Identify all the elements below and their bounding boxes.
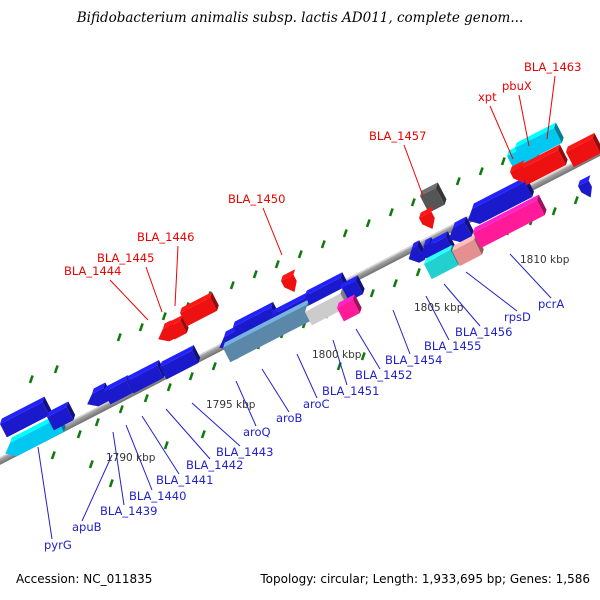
tick-mark-icon [120, 406, 123, 414]
tick-mark-icon [202, 431, 205, 439]
tick-mark-icon [96, 419, 99, 427]
leader-line [263, 208, 282, 255]
gene-label-apub[interactable]: apuB [72, 520, 102, 534]
gene-label-aroc[interactable]: aroC [303, 397, 330, 411]
ruler-label: 1790 kbp [106, 452, 156, 464]
gene-label-pbux[interactable]: pbuX [502, 79, 532, 93]
tick-mark-icon [254, 271, 257, 279]
tick-mark-icon [457, 178, 460, 186]
tick-mark-icon [190, 373, 193, 381]
ruler-label: 1800 kbp [312, 349, 362, 361]
tick-mark-icon [367, 220, 370, 228]
gene-1443[interactable] [158, 345, 202, 379]
tick-mark-icon [417, 269, 420, 277]
gene-label-bla-1443[interactable]: BLA_1443 [216, 445, 273, 459]
tick-mark-icon [480, 168, 483, 176]
gene-label-pyrg[interactable]: pyrG [44, 538, 72, 552]
tick-mark-icon [322, 241, 325, 249]
gene-label-aroq[interactable]: aroQ [243, 425, 271, 439]
leader-line [113, 432, 124, 505]
ruler-label: 1810 kbp [520, 254, 570, 266]
tick-mark-icon [276, 261, 279, 269]
leader-line [175, 246, 178, 306]
leader-line [466, 272, 517, 311]
tick-mark-icon [553, 208, 556, 216]
tick-mark-icon [412, 199, 415, 207]
gene-label-bla-1442[interactable]: BLA_1442 [186, 458, 243, 472]
gene-label-arob[interactable]: aroB [276, 411, 303, 425]
genome-map-canvas[interactable]: BLA_1444BLA_1445BLA_1446BLA_1450BLA_1457… [0, 0, 600, 600]
ruler-label: 1805 kbp [414, 302, 464, 314]
gene-label-bla-1440[interactable]: BLA_1440 [129, 489, 186, 503]
gene-blue-tip[interactable] [576, 175, 599, 200]
ruler-label: 1795 kbp [206, 399, 256, 411]
leader-line [333, 340, 347, 385]
leader-line [519, 95, 529, 146]
gene-label-bla-1463[interactable]: BLA_1463 [524, 60, 581, 74]
gene-1463[interactable] [564, 133, 600, 167]
gene-label-bla-1456[interactable]: BLA_1456 [455, 325, 512, 339]
gene-label-bla-1444[interactable]: BLA_1444 [64, 264, 121, 278]
leader-line [262, 369, 289, 412]
tick-mark-icon [110, 480, 113, 488]
leader-line [142, 416, 179, 474]
tick-mark-icon [502, 158, 505, 166]
gene-label-bla-1452[interactable]: BLA_1452 [355, 368, 412, 382]
leader-line [490, 106, 513, 159]
gene-features-layer[interactable] [0, 122, 600, 460]
leader-line [110, 280, 148, 320]
tick-mark-icon [165, 442, 168, 450]
tick-mark-icon [299, 251, 302, 259]
tick-mark-icon [575, 197, 578, 205]
tick-mark-icon [118, 334, 121, 342]
leader-line [146, 267, 162, 312]
gene-label-bla-1451[interactable]: BLA_1451 [322, 384, 379, 398]
tick-mark-icon [362, 353, 365, 361]
leader-line [404, 145, 423, 196]
gene-label-bla-1457[interactable]: BLA_1457 [369, 129, 426, 143]
gene-label-pcra[interactable]: pcrA [538, 297, 564, 311]
gene-label-xpt[interactable]: xpt [478, 90, 497, 104]
leader-line [393, 310, 410, 354]
gene-label-rpsd[interactable]: rpsD [504, 310, 531, 324]
tick-mark-icon [30, 376, 33, 384]
gene-1457[interactable] [418, 182, 448, 213]
tick-mark-icon [90, 461, 93, 469]
genome-summary-text: Topology: circular; Length: 1,933,695 bp… [260, 572, 590, 586]
tick-mark-icon [78, 431, 81, 439]
gene-label-bla-1455[interactable]: BLA_1455 [424, 339, 481, 353]
gene-1446[interactable] [178, 292, 220, 326]
gene-label-bla-1446[interactable]: BLA_1446 [137, 230, 194, 244]
gene-label-bla-1445[interactable]: BLA_1445 [97, 251, 154, 265]
leader-line [38, 447, 52, 539]
tick-mark-icon [390, 209, 393, 217]
genome-viewer: Bifidobacterium animalis subsp. lactis A… [0, 0, 600, 600]
tick-mark-icon [52, 452, 55, 460]
tick-mark-icon [168, 384, 171, 392]
tick-mark-icon [231, 282, 234, 290]
gene-label-bla-1439[interactable]: BLA_1439 [100, 504, 157, 518]
tick-mark-icon [145, 395, 148, 403]
tick-mark-icon [163, 313, 166, 321]
gene-red-1458[interactable] [417, 206, 442, 232]
gene-label-bla-1441[interactable]: BLA_1441 [156, 473, 213, 487]
tick-mark-icon [344, 230, 347, 238]
tick-mark-icon [213, 363, 216, 371]
tick-mark-icon [55, 366, 58, 374]
tick-mark-icon [394, 280, 397, 288]
tick-mark-icon [140, 324, 143, 332]
gene-1450[interactable] [279, 269, 304, 295]
gene-label-bla-1450[interactable]: BLA_1450 [228, 192, 285, 206]
tick-mark-icon [371, 290, 374, 298]
accession-text: Accession: NC_011835 [16, 572, 152, 586]
gene-label-bla-1454[interactable]: BLA_1454 [385, 353, 442, 367]
